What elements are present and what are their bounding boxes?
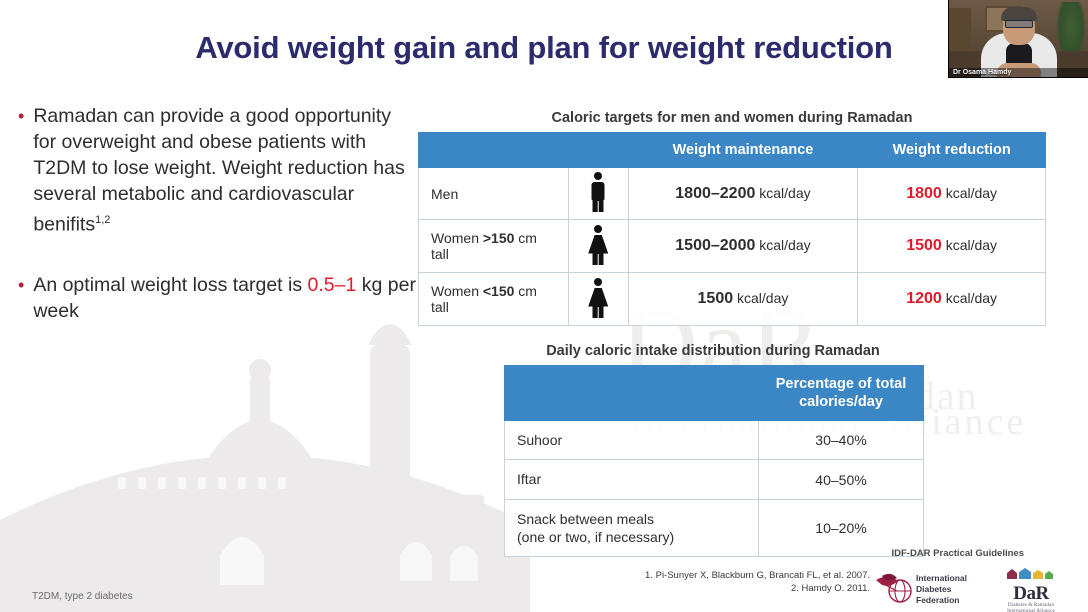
table1-header-row: Weight maintenance Weight reduction — [419, 133, 1046, 168]
table1-row2-maintenance-unit: kcal/day — [737, 290, 788, 306]
table2-row2-meal: Snack between meals (one or two, if nece… — [505, 499, 759, 556]
table1-col-reduction: Weight reduction — [858, 133, 1046, 168]
bullet-2-prefix: An optimal weight loss target is — [33, 274, 307, 296]
table2-row2-meal-line2: (one or two, if necessary) — [517, 529, 674, 545]
table1-row1-reduction: 1500 kcal/day — [858, 220, 1046, 273]
table-row: Suhoor 30–40% — [505, 421, 924, 460]
table1-row2-reduction-value: 1200 — [906, 290, 942, 307]
table2-row1-meal: Iftar — [505, 460, 759, 499]
table1-col-icon — [568, 133, 628, 168]
caloric-distribution-table: Percentage of total calories/day Suhoor … — [504, 365, 924, 557]
table1-caption: Caloric targets for men and women during… — [418, 110, 1046, 126]
idf-line-1: International — [916, 573, 967, 584]
bullet-list: • Ramadan can provide a good opportunity… — [18, 103, 418, 358]
table1-row0-maintenance-unit: kcal/day — [759, 185, 810, 201]
presenter-name-label: Dr Osama Hamdy — [949, 68, 1088, 77]
table1-row0-maintenance-value: 1800–2200 — [675, 185, 755, 202]
table1-row2-maintenance-value: 1500 — [698, 290, 734, 307]
list-item: • An optimal weight loss target is 0.5–1… — [18, 272, 418, 324]
webcam-hair — [1001, 7, 1037, 21]
table1-row0-reduction: 1800 kcal/day — [858, 168, 1046, 220]
caloric-targets-table: Weight maintenance Weight reduction Men … — [418, 132, 1046, 326]
table1-row2-label-bold: <150 — [483, 283, 515, 299]
table1-row2-maintenance: 1500 kcal/day — [628, 273, 858, 326]
idf-logo-text: International Diabetes Federation — [916, 573, 967, 606]
table1-row0-label-text: Men — [431, 186, 458, 202]
table-row: Women <150 cm tall 1500 kcal/day 1200 kc… — [419, 273, 1046, 326]
table2-row1-percentage: 40–50% — [759, 460, 924, 499]
dar-houses-icon — [1001, 568, 1061, 579]
slide-canvas: DaR madan International Alliance Avoid w… — [0, 0, 1088, 612]
male-figure-icon — [568, 168, 628, 220]
table1-row2-reduction-unit: kcal/day — [946, 290, 997, 306]
table1-row1-label: Women >150 cm tall — [419, 220, 569, 273]
bullet-marker-icon: • — [18, 272, 24, 324]
table1-row1-reduction-unit: kcal/day — [946, 237, 997, 253]
table1-row0-label: Men — [419, 168, 569, 220]
table2-body: Suhoor 30–40% Iftar 40–50% Snack between… — [505, 421, 924, 557]
table2-col-percentage-line2: calories/day — [799, 394, 883, 410]
idf-line-2: Diabetes — [916, 584, 967, 595]
table2-col-percentage: Percentage of total calories/day — [759, 366, 924, 421]
table1-col-maintenance: Weight maintenance — [628, 133, 858, 168]
table2-caption: Daily caloric intake distribution during… — [498, 343, 928, 359]
dar-logo: DaR Diabetes & Ramadan International All… — [996, 566, 1066, 606]
presenter-webcam-feed[interactable]: Dr Osama Hamdy — [948, 0, 1088, 78]
guidelines-label: IDF-DAR Practical Guidelines — [891, 548, 1024, 559]
idf-logo: International Diabetes Federation — [872, 570, 980, 604]
table1-row0-reduction-value: 1800 — [906, 185, 942, 202]
table2-header-row: Percentage of total calories/day — [505, 366, 924, 421]
bullet-text-2: An optimal weight loss target is 0.5–1 k… — [33, 272, 418, 324]
abbreviation-footnote: T2DM, type 2 diabetes — [32, 591, 133, 602]
references-block: 1. Pi-Sunyer X, Blackburn G, Brancati FL… — [645, 570, 870, 596]
table2-row0-percentage: 30–40% — [759, 421, 924, 460]
idf-bird-globe-icon — [872, 570, 918, 604]
table1-row1-label-bold: >150 — [483, 230, 515, 246]
table1-row1-reduction-value: 1500 — [906, 237, 942, 254]
female-figure-icon — [568, 273, 628, 326]
dar-logo-mark: DaR — [996, 584, 1066, 603]
table1-body: Men 1800–2200 kcal/day 1800 kcal/day Wom… — [419, 168, 1046, 326]
table2-col-percentage-line1: Percentage of total — [776, 376, 907, 392]
table2-col-meal — [505, 366, 759, 421]
reference-2: 2. Hamdy O. 2011. — [645, 583, 870, 596]
page-title: Avoid weight gain and plan for weight re… — [0, 30, 1088, 66]
bullet-1-body: Ramadan can provide a good opportunity f… — [33, 105, 404, 236]
table-row: Snack between meals (one or two, if nece… — [505, 499, 924, 556]
idf-line-3: Federation — [916, 595, 967, 606]
table1-row1-maintenance: 1500–2000 kcal/day — [628, 220, 858, 273]
table1-col-label — [419, 133, 569, 168]
table-row: Women >150 cm tall 1500–2000 kcal/day 15… — [419, 220, 1046, 273]
table-row: Men 1800–2200 kcal/day 1800 kcal/day — [419, 168, 1046, 220]
table1-row1-label-text: Women — [431, 230, 483, 246]
table1-row2-label-text: Women — [431, 283, 483, 299]
table1-row1-maintenance-value: 1500–2000 — [675, 237, 755, 254]
female-figure-icon — [568, 220, 628, 273]
table1-row1-maintenance-unit: kcal/day — [759, 237, 810, 253]
table1-row0-maintenance: 1800–2200 kcal/day — [628, 168, 858, 220]
bullet-1-superscript: 1,2 — [95, 214, 110, 226]
bullet-marker-icon: • — [18, 103, 24, 238]
table2-head: Percentage of total calories/day — [505, 366, 924, 421]
table2-row0-meal: Suhoor — [505, 421, 759, 460]
table1-row2-label: Women <150 cm tall — [419, 273, 569, 326]
webcam-glasses-icon — [1005, 20, 1033, 28]
table-row: Iftar 40–50% — [505, 460, 924, 499]
table1-head: Weight maintenance Weight reduction — [419, 133, 1046, 168]
table1-row0-reduction-unit: kcal/day — [946, 185, 997, 201]
bullet-2-highlight: 0.5–1 — [308, 274, 357, 296]
table2-row2-meal-line1: Snack between meals — [517, 511, 654, 527]
table1-row2-reduction: 1200 kcal/day — [858, 273, 1046, 326]
reference-1: 1. Pi-Sunyer X, Blackburn G, Brancati FL… — [645, 570, 870, 583]
bullet-text-1: Ramadan can provide a good opportunity f… — [33, 103, 418, 238]
list-item: • Ramadan can provide a good opportunity… — [18, 103, 418, 238]
